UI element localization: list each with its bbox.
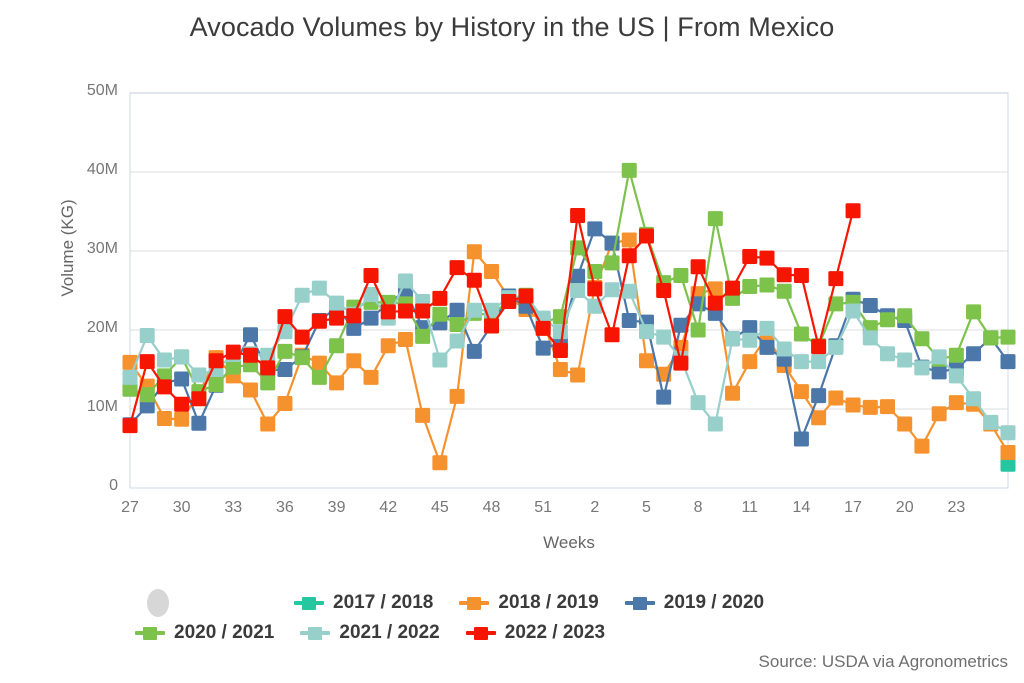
data-point-marker[interactable] (174, 349, 189, 364)
data-point-marker[interactable] (794, 326, 809, 341)
series-line-segment (836, 211, 853, 279)
data-point-marker[interactable] (243, 383, 258, 398)
data-point-marker[interactable] (759, 321, 774, 336)
data-point-marker[interactable] (691, 259, 706, 274)
data-point-marker[interactable] (398, 332, 413, 347)
data-point-marker[interactable] (622, 284, 637, 299)
data-point-marker[interactable] (794, 268, 809, 283)
data-point-marker[interactable] (329, 338, 344, 353)
data-point-marker[interactable] (467, 344, 482, 359)
data-point-marker[interactable] (140, 354, 155, 369)
x-tick-label: 27 (110, 499, 150, 517)
data-point-marker[interactable] (777, 341, 792, 356)
data-point-marker[interactable] (897, 308, 912, 323)
legend-swatch-icon (135, 625, 165, 641)
data-point-marker[interactable] (759, 340, 774, 355)
data-point-marker[interactable] (536, 341, 551, 356)
data-point-marker[interactable] (691, 395, 706, 410)
data-point-marker[interactable] (691, 323, 706, 338)
data-point-marker[interactable] (794, 354, 809, 369)
data-point-marker[interactable] (759, 277, 774, 292)
chart-legend: 2017 / 20182018 / 20192019 / 2020 2020 /… (130, 588, 1010, 648)
x-tick-label: 17 (833, 499, 873, 517)
x-tick-label: 33 (213, 499, 253, 517)
data-point-marker[interactable] (932, 349, 947, 364)
series-line-segment (629, 170, 646, 234)
data-point-marker[interactable] (863, 400, 878, 415)
data-point-marker[interactable] (484, 264, 499, 279)
data-point-marker[interactable] (364, 370, 379, 385)
series-line-segment (440, 396, 457, 462)
data-point-marker[interactable] (174, 397, 189, 412)
series-layer (123, 163, 1016, 472)
data-point-marker[interactable] (364, 268, 379, 283)
data-point-marker[interactable] (983, 415, 998, 430)
data-point-marker[interactable] (501, 294, 516, 309)
data-point-marker[interactable] (622, 248, 637, 263)
data-point-marker[interactable] (880, 312, 895, 327)
data-point-marker[interactable] (828, 271, 843, 286)
data-point-marker[interactable] (140, 328, 155, 343)
data-point-marker[interactable] (312, 314, 327, 329)
data-point-marker[interactable] (777, 267, 792, 282)
data-point-marker[interactable] (605, 255, 620, 270)
data-point-marker[interactable] (605, 282, 620, 297)
x-axis-title: Weeks (130, 533, 1008, 553)
legend-item-2022-2023[interactable]: 2022 / 2023 (466, 622, 605, 644)
data-point-marker[interactable] (381, 304, 396, 319)
data-point-marker[interactable] (277, 309, 292, 324)
data-point-marker[interactable] (364, 311, 379, 326)
data-point-marker[interactable] (966, 346, 981, 361)
data-point-marker[interactable] (725, 281, 740, 296)
data-point-marker[interactable] (243, 327, 258, 342)
data-point-marker[interactable] (157, 353, 172, 368)
legend-item-2020-2021[interactable]: 2020 / 2021 (135, 622, 274, 644)
legend-swatch-icon (300, 625, 330, 641)
data-point-marker[interactable] (191, 368, 206, 383)
x-tick-label: 11 (730, 499, 770, 517)
data-point-marker[interactable] (346, 308, 361, 323)
legend-item-label: 2020 / 2021 (174, 622, 274, 644)
data-point-marker[interactable] (398, 304, 413, 319)
data-point-marker[interactable] (570, 283, 585, 298)
data-point-marker[interactable] (260, 360, 275, 375)
data-point-marker[interactable] (484, 319, 499, 334)
data-point-marker[interactable] (914, 439, 929, 454)
data-point-marker[interactable] (828, 340, 843, 355)
legend-item-label: 2017 / 2018 (333, 592, 433, 614)
data-point-marker[interactable] (966, 304, 981, 319)
data-point-marker[interactable] (432, 353, 447, 368)
data-point-marker[interactable] (639, 228, 654, 243)
data-point-marker[interactable] (622, 313, 637, 328)
data-point-marker[interactable] (605, 327, 620, 342)
data-point-marker[interactable] (880, 346, 895, 361)
data-point-marker[interactable] (846, 304, 861, 319)
data-point-marker[interactable] (759, 251, 774, 266)
data-point-marker[interactable] (467, 303, 482, 318)
data-point-marker[interactable] (777, 284, 792, 299)
series-line-segment (268, 317, 285, 368)
data-point-marker[interactable] (742, 333, 757, 348)
data-point-marker[interactable] (295, 350, 310, 365)
data-point-marker[interactable] (708, 211, 723, 226)
data-point-marker[interactable] (708, 296, 723, 311)
data-point-marker[interactable] (639, 353, 654, 368)
data-point-marker[interactable] (587, 221, 602, 236)
data-point-marker[interactable] (398, 274, 413, 289)
data-point-marker[interactable] (932, 406, 947, 421)
data-point-marker[interactable] (863, 298, 878, 313)
chart-container: Avocado Volumes by History in the US | F… (0, 0, 1024, 683)
x-tick-label: 36 (265, 499, 305, 517)
data-point-marker[interactable] (622, 232, 637, 247)
legend-swatch-icon (294, 595, 324, 611)
data-point-marker[interactable] (123, 418, 138, 433)
data-point-marker[interactable] (295, 288, 310, 303)
legend-placeholder-circle-icon (147, 589, 169, 617)
data-point-marker[interactable] (811, 388, 826, 403)
data-point-marker[interactable] (432, 291, 447, 306)
data-point-marker[interactable] (656, 283, 671, 298)
data-point-marker[interactable] (811, 410, 826, 425)
data-point-marker[interactable] (415, 408, 430, 423)
data-point-marker[interactable] (277, 344, 292, 359)
legend-item-2019-2020[interactable]: 2019 / 2020 (625, 592, 764, 614)
data-point-marker[interactable] (553, 362, 568, 377)
data-point-marker[interactable] (295, 330, 310, 345)
data-point-marker[interactable] (174, 412, 189, 427)
series-line-segment (784, 359, 801, 439)
legend-swatch-icon (459, 595, 489, 611)
data-point-marker[interactable] (897, 417, 912, 432)
x-tick-label: 42 (368, 499, 408, 517)
legend-row-2: 2020 / 20212021 / 20222022 / 2023 (130, 618, 1010, 648)
data-point-marker[interactable] (312, 370, 327, 385)
legend-item-label: 2022 / 2023 (505, 622, 605, 644)
data-point-marker[interactable] (949, 395, 964, 410)
data-point-marker[interactable] (243, 348, 258, 363)
x-tick-label: 8 (678, 499, 718, 517)
data-point-marker[interactable] (346, 353, 361, 368)
data-point-marker[interactable] (863, 330, 878, 345)
data-point-marker[interactable] (553, 324, 568, 339)
data-point-marker[interactable] (570, 368, 585, 383)
data-point-marker[interactable] (983, 330, 998, 345)
data-point-marker[interactable] (191, 391, 206, 406)
source-attribution: Source: USDA via Agronometrics (759, 652, 1008, 672)
data-point-marker[interactable] (673, 356, 688, 371)
data-point-marker[interactable] (570, 208, 585, 223)
data-point-marker[interactable] (966, 391, 981, 406)
data-point-marker[interactable] (673, 268, 688, 283)
data-point-marker[interactable] (725, 386, 740, 401)
data-point-marker[interactable] (140, 387, 155, 402)
data-point-marker[interactable] (1001, 330, 1016, 345)
data-point-marker[interactable] (450, 334, 465, 349)
x-tick-label: 20 (885, 499, 925, 517)
data-point-marker[interactable] (811, 354, 826, 369)
data-point-marker[interactable] (277, 396, 292, 411)
legend-swatch-icon (625, 595, 655, 611)
data-point-marker[interactable] (312, 281, 327, 296)
data-point-marker[interactable] (794, 384, 809, 399)
data-point-marker[interactable] (880, 399, 895, 414)
legend-item-label: 2018 / 2019 (498, 592, 598, 614)
data-point-marker[interactable] (914, 360, 929, 375)
data-point-marker[interactable] (467, 244, 482, 259)
data-point-marker[interactable] (639, 324, 654, 339)
series-line-segment (646, 236, 663, 291)
data-point-marker[interactable] (656, 390, 671, 405)
data-point-marker[interactable] (811, 339, 826, 354)
series-line-segment (405, 339, 422, 415)
data-point-marker[interactable] (742, 249, 757, 264)
data-point-marker[interactable] (742, 354, 757, 369)
data-point-marker[interactable] (277, 362, 292, 377)
x-tick-label: 23 (936, 499, 976, 517)
x-tick-label: 30 (162, 499, 202, 517)
legend-item-label: 2021 / 2022 (339, 622, 439, 644)
data-point-marker[interactable] (949, 348, 964, 363)
data-point-marker[interactable] (415, 304, 430, 319)
data-point-marker[interactable] (260, 375, 275, 390)
x-tick-label: 2 (575, 499, 615, 517)
y-tick-label: 0 (58, 477, 118, 495)
y-tick-label: 50M (58, 82, 118, 100)
data-point-marker[interactable] (536, 321, 551, 336)
data-point-marker[interactable] (329, 311, 344, 326)
data-point-marker[interactable] (897, 353, 912, 368)
data-point-marker[interactable] (553, 343, 568, 358)
x-tick-label: 14 (781, 499, 821, 517)
data-point-marker[interactable] (329, 296, 344, 311)
data-point-marker[interactable] (518, 289, 533, 304)
data-point-marker[interactable] (846, 203, 861, 218)
data-point-marker[interactable] (1001, 425, 1016, 440)
data-point-marker[interactable] (587, 281, 602, 296)
y-axis-title: Volume (KG) (58, 168, 78, 328)
legend-item-label: 2019 / 2020 (664, 592, 764, 614)
data-point-marker[interactable] (415, 329, 430, 344)
data-point-marker[interactable] (846, 398, 861, 413)
data-point-marker[interactable] (450, 303, 465, 318)
x-tick-label: 51 (523, 499, 563, 517)
data-point-marker[interactable] (432, 307, 447, 322)
data-point-marker[interactable] (656, 330, 671, 345)
legend-item-2017-2018[interactable]: 2017 / 2018 (294, 592, 433, 614)
data-point-marker[interactable] (622, 163, 637, 178)
data-point-marker[interactable] (381, 338, 396, 353)
data-point-marker[interactable] (914, 331, 929, 346)
x-tick-label: 48 (472, 499, 512, 517)
data-point-marker[interactable] (157, 379, 172, 394)
data-point-marker[interactable] (1001, 354, 1016, 369)
legend-swatch-icon (466, 625, 496, 641)
data-point-marker[interactable] (828, 390, 843, 405)
data-point-marker[interactable] (123, 370, 138, 385)
legend-item-2018-2019[interactable]: 2018 / 2019 (459, 592, 598, 614)
data-point-marker[interactable] (174, 371, 189, 386)
data-point-marker[interactable] (1001, 445, 1016, 460)
x-tick-label: 45 (420, 499, 460, 517)
data-point-marker[interactable] (191, 416, 206, 431)
data-point-marker[interactable] (794, 432, 809, 447)
data-point-marker[interactable] (949, 368, 964, 383)
data-point-marker[interactable] (467, 273, 482, 288)
data-point-marker[interactable] (260, 417, 275, 432)
y-tick-label: 10M (58, 398, 118, 416)
data-point-marker[interactable] (450, 260, 465, 275)
data-point-marker[interactable] (226, 345, 241, 360)
data-point-marker[interactable] (450, 389, 465, 404)
data-point-marker[interactable] (329, 375, 344, 390)
data-point-marker[interactable] (708, 417, 723, 432)
x-tick-label: 5 (626, 499, 666, 517)
legend-row-1: 2017 / 20182018 / 20192019 / 2020 (130, 588, 1010, 618)
data-point-marker[interactable] (157, 411, 172, 426)
x-tick-label: 39 (317, 499, 357, 517)
plot-svg (0, 0, 1024, 683)
data-point-marker[interactable] (742, 279, 757, 294)
data-point-marker[interactable] (209, 377, 224, 392)
data-point-marker[interactable] (725, 331, 740, 346)
legend-item-2021-2022[interactable]: 2021 / 2022 (300, 622, 439, 644)
data-point-marker[interactable] (209, 353, 224, 368)
data-point-marker[interactable] (432, 455, 447, 470)
